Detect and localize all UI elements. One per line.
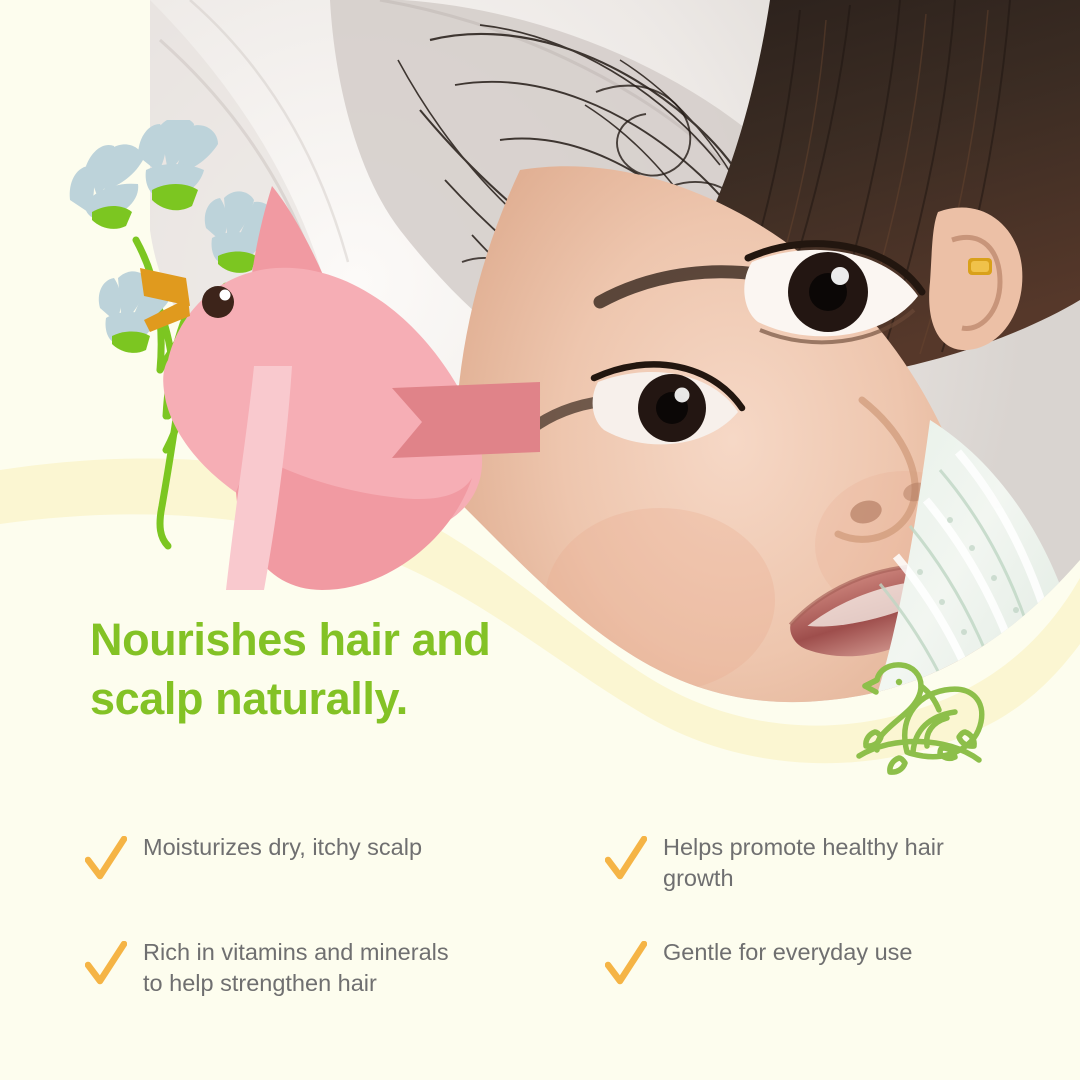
benefit-item-moisturizes: Moisturizes dry, itchy scalp xyxy=(85,832,605,895)
check-icon xyxy=(605,836,647,882)
bird-on-branch-leaf-logo xyxy=(855,660,995,775)
benefit-text: Moisturizes dry, itchy scalp xyxy=(143,832,422,863)
check-icon xyxy=(605,941,647,987)
flower-petals xyxy=(70,144,144,229)
check-icon xyxy=(85,836,127,882)
benefit-item-vitamins-minerals: Rich in vitamins and minerals to help st… xyxy=(85,937,605,1000)
bird-eye xyxy=(202,286,234,318)
benefit-text: Helps promote healthy hair growth xyxy=(663,832,993,895)
benefit-text: Rich in vitamins and minerals to help st… xyxy=(143,937,473,1000)
page-headline: Nourishes hair and scalp naturally. xyxy=(90,610,610,729)
pink-bird-illustration xyxy=(40,120,540,590)
benefit-item-healthy-growth: Helps promote healthy hair growth xyxy=(605,832,1080,895)
promo-card: Nourishes hair and scalp naturally. Mois… xyxy=(0,0,1080,1080)
check-icon xyxy=(85,941,127,987)
benefit-item-everyday-use: Gentle for everyday use xyxy=(605,937,1080,1000)
benefits-list: Moisturizes dry, itchy scalp Helps promo… xyxy=(0,832,1080,1000)
benefit-text: Gentle for everyday use xyxy=(663,937,913,968)
